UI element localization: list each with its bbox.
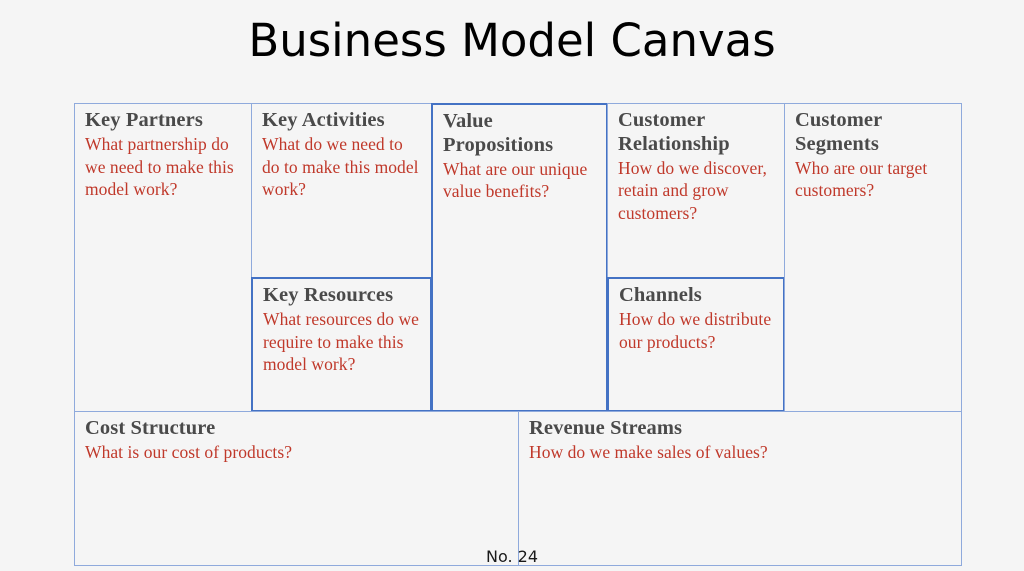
block-revenue-streams-body: How do we make sales of values? [529, 441, 952, 464]
block-cost-structure[interactable]: Cost Structure What is our cost of produ… [74, 411, 519, 566]
block-revenue-streams[interactable]: Revenue Streams How do we make sales of … [518, 411, 962, 566]
block-cost-structure-title: Cost Structure [85, 417, 509, 441]
block-key-activities-body: What do we need to do to make this model… [262, 133, 422, 201]
block-key-resources-body: What resources do we require to make thi… [263, 308, 421, 376]
block-value-propositions[interactable]: Value Propositions What are our unique v… [431, 103, 608, 412]
business-model-canvas-grid: Key Partners What partnership do we need… [74, 103, 962, 566]
block-cost-structure-body: What is our cost of products? [85, 441, 509, 464]
page-title: Business Model Canvas [0, 16, 1024, 66]
block-key-resources[interactable]: Key Resources What resources do we requi… [251, 277, 432, 412]
block-key-partners-title: Key Partners [85, 109, 242, 133]
block-key-partners[interactable]: Key Partners What partnership do we need… [74, 103, 252, 412]
block-revenue-streams-title: Revenue Streams [529, 417, 952, 441]
block-key-resources-title: Key Resources [263, 284, 421, 308]
block-key-partners-body: What partnership do we need to make this… [85, 133, 242, 201]
block-channels-body: How do we distribute our products? [619, 308, 774, 354]
block-customer-relationship-body: How do we discover, retain and grow cust… [618, 157, 775, 225]
block-key-activities-title: Key Activities [262, 109, 422, 133]
block-key-activities[interactable]: Key Activities What do we need to do to … [251, 103, 432, 278]
block-customer-relationship-title: Customer Relationship [618, 109, 775, 157]
block-channels[interactable]: Channels How do we distribute our produc… [607, 277, 785, 412]
block-customer-segments-title: Customer Segments [795, 109, 952, 157]
block-channels-title: Channels [619, 284, 774, 308]
block-customer-segments[interactable]: Customer Segments Who are our target cus… [784, 103, 962, 412]
block-value-propositions-body: What are our unique value benefits? [443, 158, 597, 204]
block-customer-relationship[interactable]: Customer Relationship How do we discover… [607, 103, 785, 278]
page-number: No. 24 [0, 547, 1024, 566]
block-customer-segments-body: Who are our target customers? [795, 157, 952, 203]
block-value-propositions-title: Value Propositions [443, 110, 597, 158]
